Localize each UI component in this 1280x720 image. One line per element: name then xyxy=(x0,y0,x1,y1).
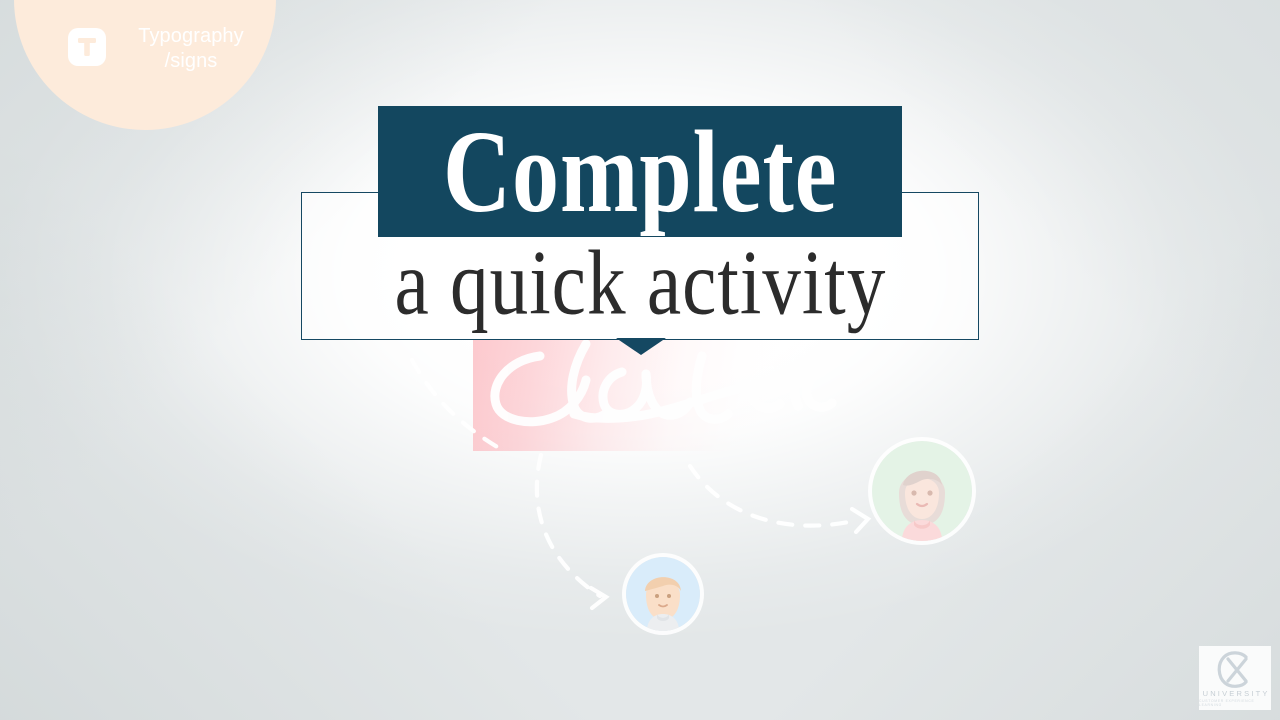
title-banner: Complete xyxy=(378,106,902,237)
avatar-woman xyxy=(872,441,972,541)
down-caret-icon xyxy=(616,338,666,355)
topic-badge-label: Typography /signs xyxy=(116,24,266,74)
page-title: Complete xyxy=(443,113,837,230)
subtitle-container: a quick activity xyxy=(301,237,979,329)
slide-canvas: Complete a quick activity Typography /si… xyxy=(0,0,1280,720)
cx-university-watermark: UNIVERSITY CUSTOMER EXPERIENCE LEARNING xyxy=(1199,646,1271,710)
cx-monogram-icon xyxy=(1212,650,1258,688)
watermark-subtitle: CUSTOMER EXPERIENCE LEARNING xyxy=(1199,699,1271,707)
watermark-title: UNIVERSITY xyxy=(1200,689,1269,698)
page-subtitle: a quick activity xyxy=(394,237,886,329)
avatar-boy xyxy=(626,557,700,631)
topic-badge-content: Typography /signs xyxy=(68,24,268,86)
typography-t-icon xyxy=(68,28,106,66)
soda-brand-block xyxy=(473,339,818,451)
